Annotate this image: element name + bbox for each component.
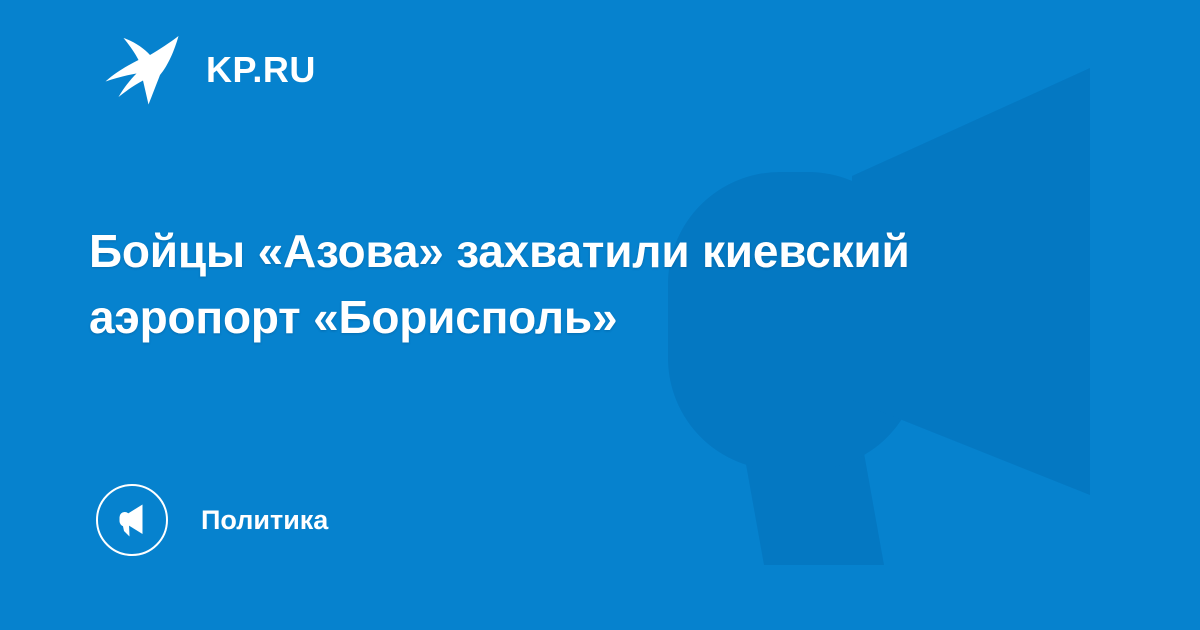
swallow-bird-icon [104,34,182,106]
headline-title: Бойцы «Азова» захватили киевский аэропор… [89,218,1089,350]
brand-wordmark: KP.RU [206,52,316,88]
social-share-card: KP.RU Бойцы «Азова» захватили киевский а… [0,0,1200,630]
megaphone-icon [96,484,168,556]
brand-logo[interactable]: KP.RU [104,34,316,106]
category-label: Политика [201,507,328,534]
category-badge[interactable]: Политика [96,484,328,556]
